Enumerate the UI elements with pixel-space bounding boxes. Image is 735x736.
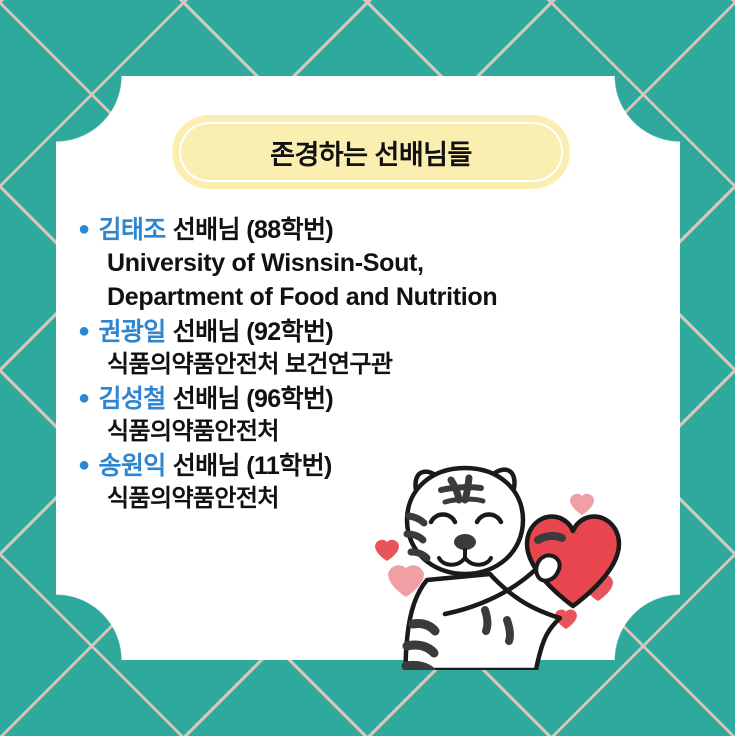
title-banner: 존경하는 선배님들	[172, 115, 570, 189]
senior-name: 권광일	[98, 316, 165, 349]
list-item: ● 권광일 선배님 (92학번) 식품의약품안전처 보건연구관	[78, 316, 598, 381]
list-item: ● 김성철 선배님 (96학번) 식품의약품안전처	[78, 383, 598, 448]
bullet-icon: ●	[78, 214, 89, 244]
tiger-body	[406, 574, 560, 670]
senior-name: 김성철	[98, 383, 165, 416]
senior-title: 선배님 (88학번)	[173, 214, 333, 247]
entry-heading: ● 김성철 선배님 (96학번)	[78, 383, 598, 416]
list-item: ● 김태조 선배님 (88학번) University of Wisnsin-S…	[78, 214, 598, 314]
entry-heading: ● 김태조 선배님 (88학번)	[78, 214, 598, 247]
affiliation-line: Department of Food and Nutrition	[107, 281, 598, 314]
bullet-icon: ●	[78, 316, 89, 346]
tiger-head	[407, 468, 523, 574]
senior-title: 선배님 (11학번)	[173, 450, 332, 483]
page-title: 존경하는 선배님들	[270, 133, 472, 172]
affiliation-line: 식품의약품안전처 보건연구관	[107, 349, 598, 381]
senior-title: 선배님 (92학번)	[173, 316, 333, 349]
affiliation-line: 식품의약품안전처	[107, 416, 598, 448]
senior-title: 선배님 (96학번)	[173, 383, 333, 416]
bullet-icon: ●	[78, 450, 89, 480]
senior-name: 김태조	[98, 214, 165, 247]
tiger-illustration	[355, 460, 655, 670]
senior-name: 송원익	[98, 450, 165, 483]
affiliation-line: University of Wisnsin-Sout,	[107, 247, 598, 280]
bullet-icon: ●	[78, 383, 89, 413]
entry-heading: ● 권광일 선배님 (92학번)	[78, 316, 598, 349]
